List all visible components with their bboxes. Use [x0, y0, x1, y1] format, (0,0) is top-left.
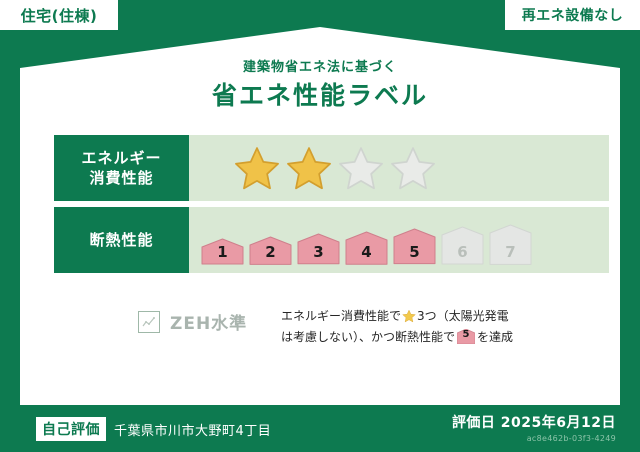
inline-grade-badge-value: 5: [457, 329, 475, 344]
inline-grade-badge: 5: [457, 329, 475, 344]
insulation-grade-badge: 5: [393, 228, 436, 265]
insulation-grade-value: 5: [393, 243, 436, 261]
star-rating: [234, 145, 436, 191]
zeh-label: ZEH水準: [170, 309, 247, 334]
label-title: 省エネ性能ラベル: [0, 76, 640, 112]
insulation-performance-row: 断熱性能 1234567: [54, 207, 609, 273]
energy-performance-label: 住宅(住棟) 再エネ設備なし 建築物省エネ法に基づく 省エネ性能ラベル エネルギ…: [0, 0, 640, 452]
energy-performance-row: エネルギー 消費性能: [54, 135, 609, 201]
evaluation-hash: ac8e462b-03f3-4249: [452, 434, 616, 443]
energy-label-line1: エネルギー: [81, 148, 161, 168]
energy-label-line2: 消費性能: [89, 168, 153, 188]
label-card: エネルギー 消費性能 断熱性能 1234567: [33, 116, 607, 403]
insulation-grade-value: 7: [489, 243, 532, 261]
zeh-desc-line2-b: を達成: [477, 330, 513, 344]
evaluation-date: 評価日 2025年6月12日: [452, 412, 616, 432]
insulation-grade-badges: 1234567: [201, 207, 532, 273]
footer-left: 自己評価 千葉県市川市大野町4丁目: [36, 417, 271, 441]
building-type-tab: 住宅(住棟): [0, 0, 118, 30]
insulation-grade-value: 6: [441, 243, 484, 261]
insulation-grade-badge: 2: [249, 236, 292, 265]
energy-performance-label-box: エネルギー 消費性能: [54, 135, 189, 201]
footer-right: 評価日 2025年6月12日 ac8e462b-03f3-4249: [452, 412, 616, 443]
zeh-desc-line1-b: 3つ（太陽光発電: [417, 309, 509, 323]
insulation-grade-value: 2: [249, 243, 292, 261]
zeh-desc-line2-a: は考慮しない）、かつ断熱性能で: [281, 330, 455, 344]
insulation-grade-value: 3: [297, 243, 340, 261]
insulation-label-line1: 断熱性能: [89, 230, 153, 250]
insulation-grade-badge: 4: [345, 231, 388, 265]
property-address: 千葉県市川市大野町4丁目: [114, 420, 271, 439]
inline-star-icon: [402, 309, 416, 323]
star-empty-icon: [338, 145, 384, 191]
zeh-chart-icon: [138, 311, 160, 333]
zeh-desc-line1-a: エネルギー消費性能で: [281, 309, 401, 323]
label-subtitle: 建築物省エネ法に基づく: [0, 56, 640, 75]
insulation-performance-value-box: 1234567: [189, 207, 609, 273]
energy-performance-value-box: [189, 135, 609, 201]
insulation-grade-badge: 6: [441, 226, 484, 265]
star-filled-icon: [234, 145, 280, 191]
insulation-grade-value: 1: [201, 243, 244, 261]
zeh-description: エネルギー消費性能で3つ（太陽光発電は考慮しない）、かつ断熱性能で5を達成: [281, 306, 571, 348]
insulation-grade-badge: 1: [201, 238, 244, 265]
self-evaluation-badge: 自己評価: [36, 417, 106, 441]
zeh-standard-mark: ZEH水準: [138, 309, 247, 334]
star-empty-icon: [390, 145, 436, 191]
insulation-grade-badge: 3: [297, 233, 340, 265]
insulation-grade-value: 4: [345, 243, 388, 261]
insulation-grade-badge: 7: [489, 224, 532, 265]
renewable-equipment-tab: 再エネ設備なし: [505, 0, 640, 30]
star-filled-icon: [286, 145, 332, 191]
insulation-performance-label-box: 断熱性能: [54, 207, 189, 273]
